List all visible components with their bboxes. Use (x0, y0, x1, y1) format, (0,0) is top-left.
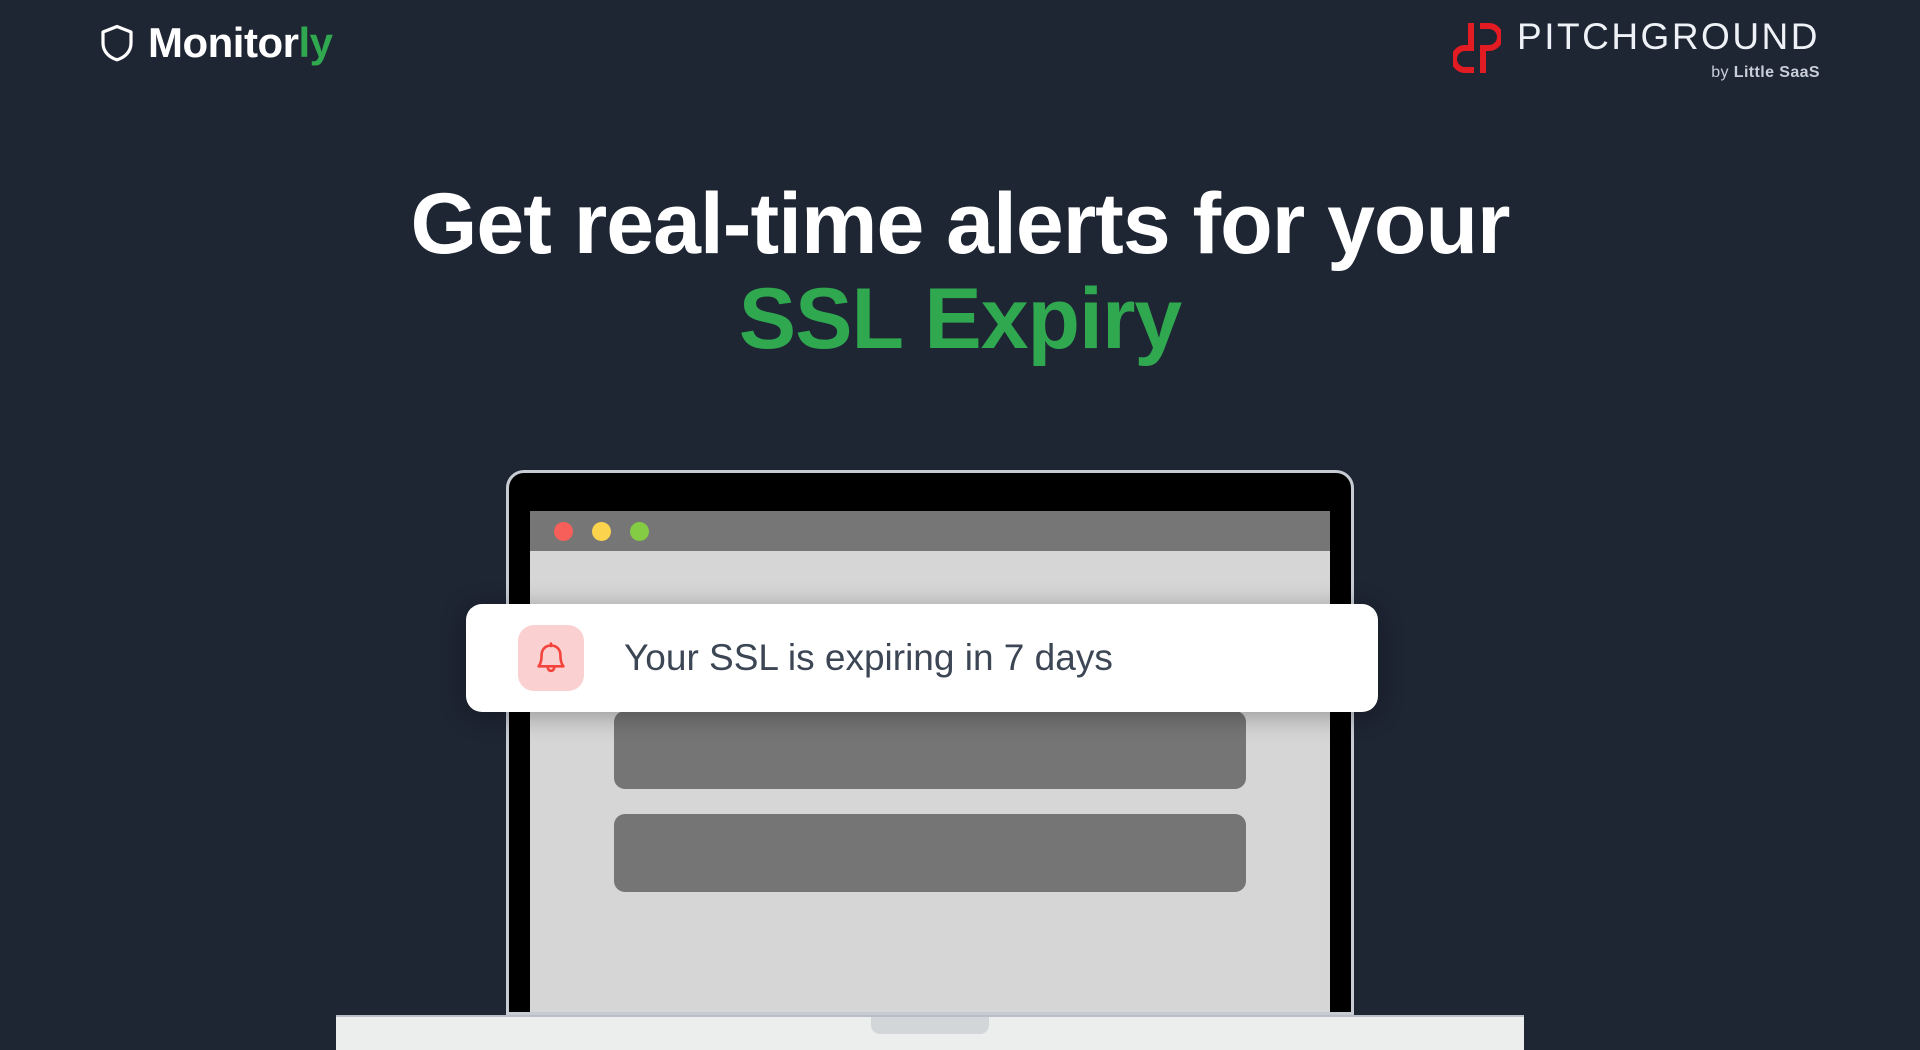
partner-name: PITCHGROUND (1517, 18, 1820, 57)
placeholder-bar (614, 711, 1246, 789)
partner-tagline-prefix: by (1711, 64, 1734, 81)
partner-tagline: by Little SaaS (1711, 64, 1820, 82)
partner-logo[interactable]: PITCHGROUND by Little SaaS (1453, 18, 1820, 82)
brand-name: Monitorly (148, 22, 332, 64)
partner-tagline-brand: Little SaaS (1734, 64, 1820, 81)
close-dot[interactable] (554, 522, 573, 541)
promo-banner: Monitorly PITCHGROUND by Little SaaS Get… (0, 0, 1920, 1050)
page-title: Get real-time alerts for your SSL Expiry (0, 178, 1920, 367)
browser-titlebar (530, 511, 1330, 551)
content-placeholders (614, 711, 1246, 892)
laptop-mockup (506, 470, 1354, 1050)
browser-window (530, 511, 1330, 1012)
shield-icon (100, 24, 134, 62)
headline-line-2: SSL Expiry (0, 271, 1920, 367)
laptop-base-notch (871, 1017, 989, 1034)
header: Monitorly PITCHGROUND by Little SaaS (0, 0, 1920, 120)
laptop-base (336, 1015, 1524, 1050)
brand-name-accent: ly (298, 19, 332, 66)
traffic-lights (554, 522, 649, 541)
pitchground-monogram-icon (1453, 18, 1501, 74)
maximize-dot[interactable] (630, 522, 649, 541)
notification-message: Your SSL is expiring in 7 days (624, 638, 1113, 679)
laptop-lid (506, 470, 1354, 1015)
ssl-expiry-notification[interactable]: Your SSL is expiring in 7 days (466, 604, 1378, 712)
brand-name-primary: Monitor (148, 19, 298, 66)
brand-logo[interactable]: Monitorly (100, 22, 332, 64)
partner-wordmark: PITCHGROUND by Little SaaS (1517, 18, 1820, 82)
bell-icon-badge (518, 625, 584, 691)
placeholder-bar (614, 814, 1246, 892)
minimize-dot[interactable] (592, 522, 611, 541)
bell-icon (532, 639, 570, 677)
headline-line-1: Get real-time alerts for your (0, 178, 1920, 271)
